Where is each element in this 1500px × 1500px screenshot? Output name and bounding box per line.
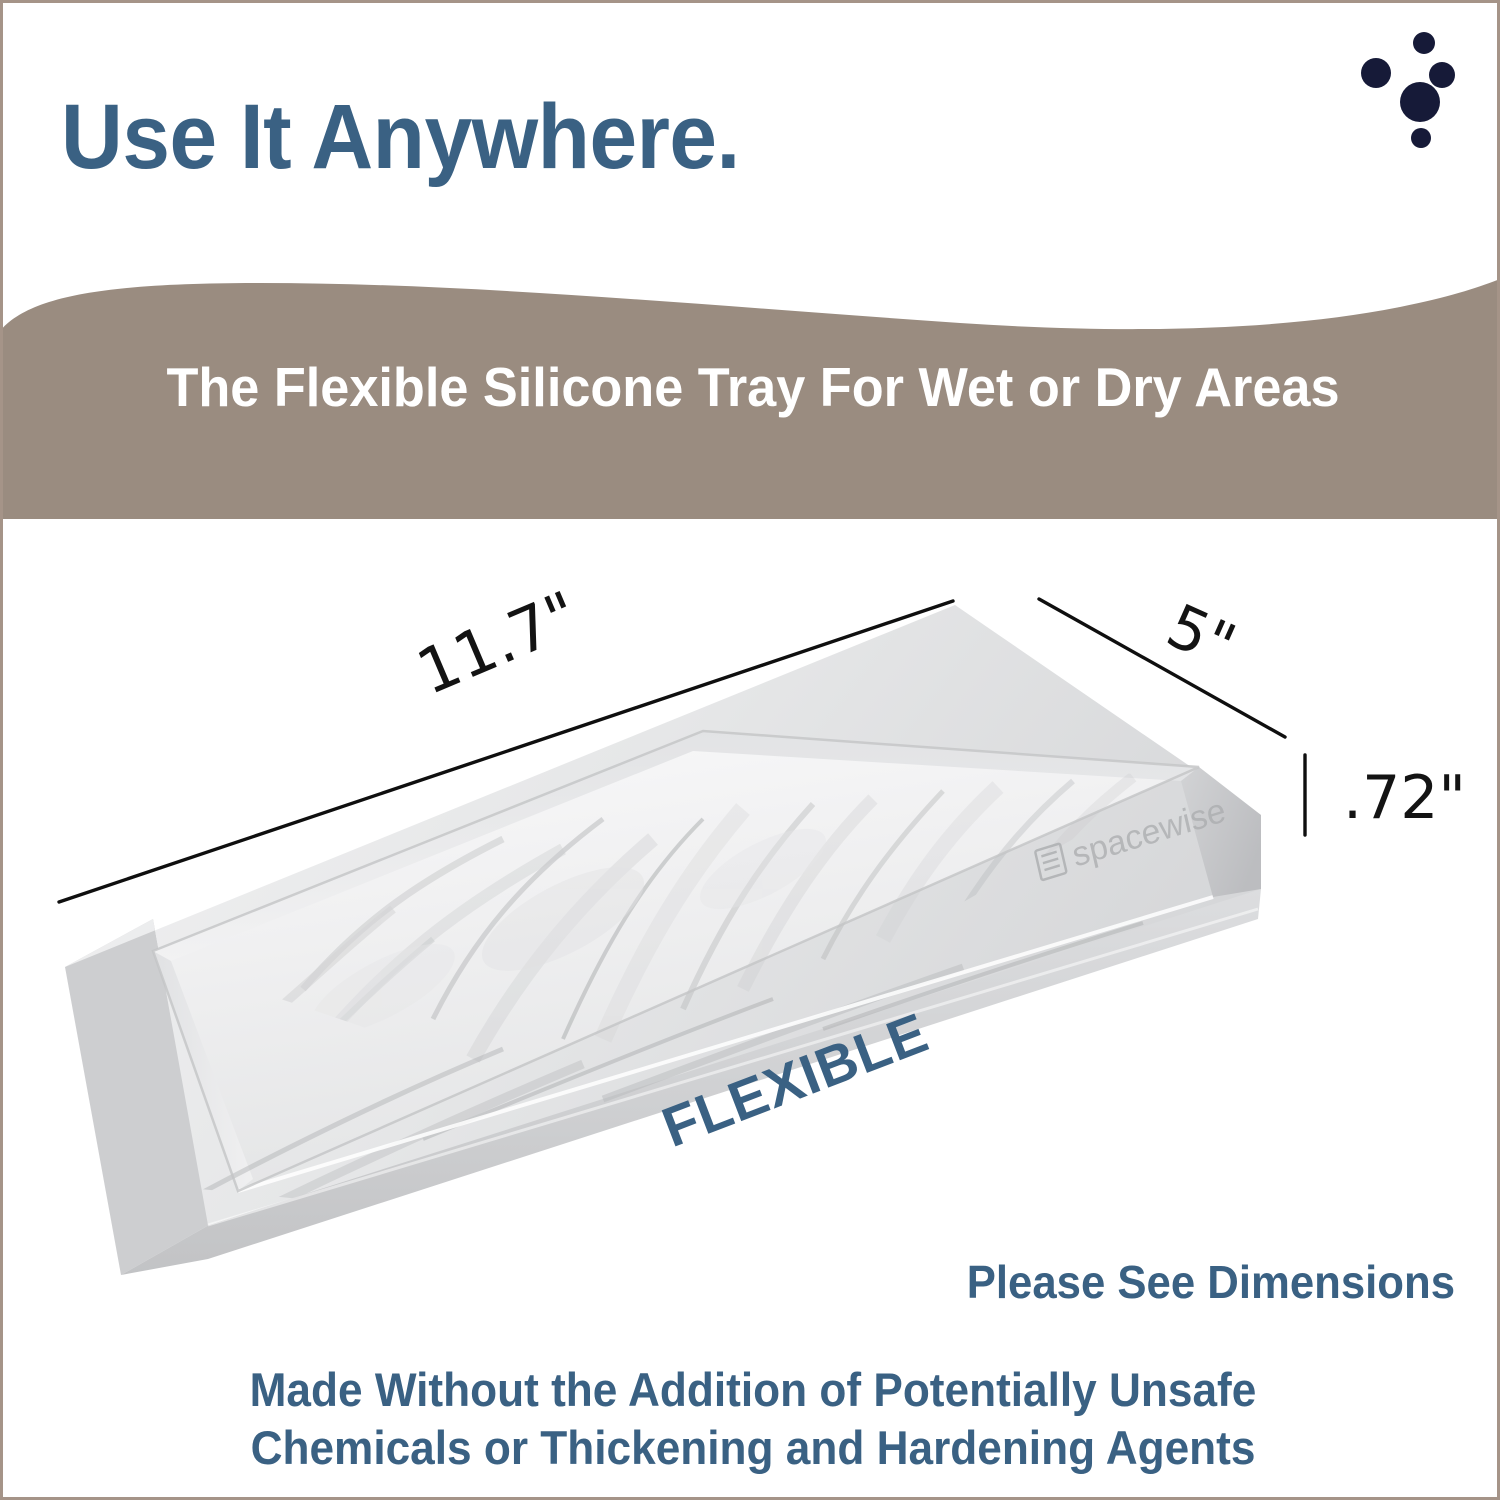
product-infographic: Use It Anywhere. The Flexible Silicone T… bbox=[0, 0, 1500, 1500]
safety-claim-block: Made Without the Addition of Potentially… bbox=[48, 1361, 1458, 1478]
decor-dot bbox=[1411, 128, 1431, 148]
decor-dot bbox=[1429, 62, 1455, 88]
dimension-label-height: .72" bbox=[1343, 763, 1466, 833]
safety-claim-line-1: Made Without the Addition of Potentially… bbox=[48, 1361, 1458, 1419]
product-image-stage: spacewise bbox=[3, 519, 1500, 1309]
decor-dot bbox=[1361, 58, 1391, 88]
banner-subtitle: The Flexible Silicone Tray For Wet or Dr… bbox=[41, 355, 1466, 419]
page-title: Use It Anywhere. bbox=[61, 91, 740, 183]
decor-dot bbox=[1400, 82, 1440, 122]
silicone-tray-illustration: spacewise bbox=[3, 519, 1500, 1309]
see-dimensions-text: Please See Dimensions bbox=[76, 1255, 1455, 1309]
safety-claim-line-2: Chemicals or Thickening and Hardening Ag… bbox=[48, 1419, 1458, 1477]
decorative-dots-cluster bbox=[1358, 33, 1488, 173]
decor-dot bbox=[1413, 32, 1435, 54]
